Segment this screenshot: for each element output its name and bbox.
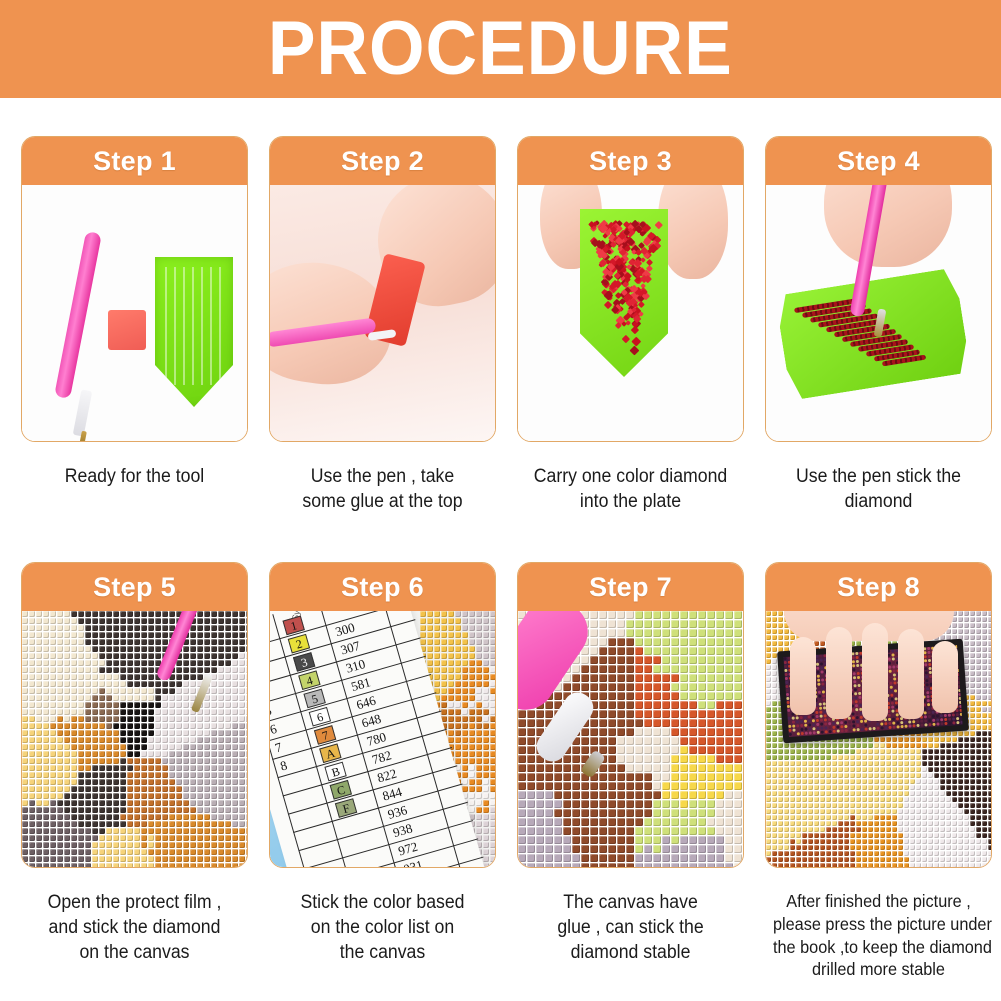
mosaic-cell bbox=[766, 743, 771, 748]
mosaic-cell bbox=[71, 821, 77, 827]
mosaic-cell bbox=[78, 646, 84, 652]
mosaic-cell bbox=[892, 755, 897, 760]
mosaic-cell bbox=[71, 744, 77, 750]
mosaic-cell bbox=[113, 716, 119, 722]
mosaic-cell bbox=[225, 800, 231, 806]
mosaic-cell bbox=[689, 638, 697, 646]
mosaic-cell bbox=[838, 779, 843, 784]
mosaic-cell bbox=[808, 773, 813, 778]
mosaic-cell bbox=[832, 821, 837, 826]
mosaic-cell bbox=[71, 779, 77, 785]
mosaic-cell bbox=[469, 772, 475, 778]
mosaic-cell bbox=[85, 786, 91, 792]
mosaic-cell bbox=[916, 845, 921, 850]
mosaic-cell bbox=[50, 863, 56, 867]
chart-cell-index: 6 bbox=[270, 721, 279, 738]
mosaic-cell bbox=[469, 737, 475, 743]
mosaic-cell bbox=[868, 761, 873, 766]
mosaic-cell bbox=[134, 667, 140, 673]
mosaic-cell bbox=[844, 785, 849, 790]
mosaic-cell bbox=[617, 719, 625, 727]
mosaic-cell bbox=[772, 851, 777, 856]
step-card-8[interactable]: Step 8 bbox=[765, 562, 992, 868]
mosaic-cell bbox=[970, 695, 975, 700]
mosaic-cell bbox=[155, 849, 161, 855]
diamond-drill bbox=[638, 301, 645, 308]
step-card-3[interactable]: Step 3 bbox=[517, 136, 744, 442]
mosaic-cell bbox=[716, 647, 724, 655]
mosaic-cell bbox=[99, 653, 105, 659]
mosaic-cell bbox=[518, 809, 526, 817]
mosaic-cell bbox=[197, 863, 203, 867]
mosaic-cell bbox=[527, 764, 535, 772]
mosaic-cell bbox=[113, 765, 119, 771]
mosaic-cell bbox=[127, 856, 133, 862]
mosaic-cell bbox=[910, 803, 915, 808]
mosaic-cell bbox=[922, 779, 927, 784]
mosaic-cell bbox=[211, 786, 217, 792]
mosaic-cell bbox=[734, 854, 742, 862]
mosaic-cell bbox=[211, 702, 217, 708]
mosaic-cell bbox=[856, 803, 861, 808]
mosaic-cell bbox=[43, 660, 49, 666]
mosaic-cell bbox=[554, 863, 562, 867]
mosaic-cell bbox=[772, 791, 777, 796]
mosaic-cell bbox=[536, 791, 544, 799]
mosaic-cell bbox=[626, 809, 634, 817]
mosaic-cell bbox=[976, 779, 981, 784]
mosaic-cell bbox=[653, 800, 661, 808]
mosaic-cell bbox=[617, 629, 625, 637]
mosaic-cell bbox=[689, 620, 697, 628]
mosaic-cell bbox=[57, 807, 63, 813]
mosaic-cell bbox=[970, 707, 975, 712]
mosaic-cell bbox=[653, 737, 661, 745]
step-card-body-2 bbox=[270, 185, 495, 441]
mosaic-cell bbox=[483, 800, 489, 806]
mosaic-cell bbox=[246, 786, 247, 792]
step-card-6[interactable]: Step 6 No.SymbolDMC112230033307443105558… bbox=[269, 562, 496, 868]
mosaic-cell bbox=[99, 800, 105, 806]
mosaic-cell bbox=[916, 815, 921, 820]
mosaic-cell bbox=[155, 653, 161, 659]
mosaic-cell bbox=[617, 746, 625, 754]
mosaic-cell bbox=[225, 681, 231, 687]
mosaic-cell bbox=[772, 833, 777, 838]
chart-row-divider bbox=[270, 692, 436, 741]
mosaic-cell bbox=[469, 758, 475, 764]
mosaic-cell bbox=[120, 667, 126, 673]
mosaic-cell bbox=[904, 827, 909, 832]
mosaic-cell bbox=[698, 845, 706, 853]
mosaic-cell bbox=[970, 839, 975, 844]
mosaic-cell bbox=[874, 737, 879, 742]
mosaic-cell bbox=[563, 782, 571, 790]
mosaic-cell bbox=[64, 793, 70, 799]
mosaic-cell bbox=[599, 827, 607, 835]
mosaic-cell bbox=[120, 786, 126, 792]
mosaic-cell bbox=[120, 793, 126, 799]
mosaic-cell bbox=[141, 653, 147, 659]
mosaic-cell bbox=[232, 772, 238, 778]
mosaic-cell bbox=[680, 683, 688, 691]
mosaic-cell bbox=[536, 719, 544, 727]
mosaic-cell bbox=[22, 863, 28, 867]
mosaic-cell bbox=[880, 791, 885, 796]
mosaic-cell bbox=[662, 764, 670, 772]
mosaic-cell bbox=[680, 800, 688, 808]
mosaic-cell bbox=[225, 646, 231, 652]
mosaic-cell bbox=[106, 660, 112, 666]
mosaic-cell bbox=[36, 765, 42, 771]
mosaic-cell bbox=[856, 767, 861, 772]
mosaic-cell bbox=[197, 828, 203, 834]
mosaic-cell bbox=[183, 660, 189, 666]
mosaic-cell bbox=[554, 818, 562, 826]
mosaic-cell bbox=[772, 797, 777, 802]
mosaic-cell bbox=[725, 647, 733, 655]
mosaic-cell bbox=[43, 667, 49, 673]
mosaic-cell bbox=[814, 827, 819, 832]
mosaic-cell bbox=[36, 660, 42, 666]
mosaic-cell bbox=[106, 800, 112, 806]
mosaic-cell bbox=[940, 785, 945, 790]
mosaic-cell bbox=[218, 716, 224, 722]
mosaic-cell bbox=[868, 773, 873, 778]
mosaic-cell bbox=[448, 730, 454, 736]
mosaic-cell bbox=[483, 807, 489, 813]
mosaic-cell bbox=[490, 639, 495, 645]
mosaic-cell bbox=[844, 797, 849, 802]
mosaic-cell bbox=[162, 688, 168, 694]
mosaic-cell bbox=[169, 849, 175, 855]
mosaic-cell bbox=[581, 782, 589, 790]
mosaic-cell bbox=[671, 701, 679, 709]
mosaic-cell bbox=[490, 772, 495, 778]
mosaic-cell bbox=[910, 791, 915, 796]
mosaic-cell bbox=[469, 695, 475, 701]
mosaic-cell bbox=[826, 791, 831, 796]
mosaic-cell bbox=[778, 641, 783, 646]
mosaic-cell bbox=[892, 773, 897, 778]
mosaic-cell bbox=[988, 761, 991, 766]
mosaic-cell bbox=[155, 744, 161, 750]
mosaic-cell bbox=[734, 638, 742, 646]
mosaic-cell bbox=[868, 857, 873, 862]
mosaic-cell bbox=[99, 849, 105, 855]
mosaic-cell bbox=[148, 765, 154, 771]
mosaic-cell bbox=[725, 845, 733, 853]
mosaic-cell bbox=[922, 785, 927, 790]
mosaic-cell bbox=[176, 863, 182, 867]
mosaic-cell bbox=[78, 772, 84, 778]
mosaic-cell bbox=[176, 849, 182, 855]
step-card-4[interactable]: Step 4 bbox=[765, 136, 992, 442]
mosaic-cell bbox=[527, 782, 535, 790]
mosaic-cell bbox=[838, 791, 843, 796]
mosaic-cell bbox=[766, 635, 771, 640]
mosaic-cell bbox=[820, 863, 825, 867]
mosaic-cell bbox=[725, 791, 733, 799]
mosaic-cell bbox=[176, 702, 182, 708]
mosaic-cell bbox=[916, 761, 921, 766]
mosaic-cell bbox=[246, 702, 247, 708]
mosaic-cell bbox=[886, 857, 891, 862]
mosaic-cell bbox=[635, 683, 643, 691]
mosaic-cell bbox=[225, 716, 231, 722]
mosaic-cell bbox=[590, 647, 598, 655]
mosaic-cell bbox=[874, 761, 879, 766]
mosaic-cell bbox=[155, 681, 161, 687]
step-column-5: Step 5 Open the protect film , and stick… bbox=[21, 562, 248, 981]
mosaic-cell bbox=[134, 625, 140, 631]
mosaic-cell bbox=[490, 702, 495, 708]
mosaic-cell bbox=[162, 723, 168, 729]
mosaic-cell bbox=[127, 765, 133, 771]
mosaic-cell bbox=[71, 772, 77, 778]
mosaic-cell bbox=[608, 701, 616, 709]
mosaic-cell bbox=[644, 791, 652, 799]
mosaic-cell bbox=[766, 695, 771, 700]
mosaic-cell bbox=[778, 821, 783, 826]
mosaic-cell bbox=[141, 800, 147, 806]
mosaic-cell bbox=[838, 845, 843, 850]
mosaic-cell bbox=[790, 743, 795, 748]
mosaic-cell bbox=[64, 730, 70, 736]
mosaic-cell bbox=[211, 772, 217, 778]
mosaic-cell bbox=[958, 815, 963, 820]
mosaic-cell bbox=[934, 863, 939, 867]
mosaic-cell bbox=[134, 730, 140, 736]
mosaic-cell bbox=[92, 674, 98, 680]
mosaic-cell bbox=[707, 854, 715, 862]
mosaic-cell bbox=[862, 863, 867, 867]
mosaic-cell bbox=[43, 653, 49, 659]
mosaic-cell bbox=[64, 646, 70, 652]
mosaic-cell bbox=[904, 821, 909, 826]
mosaic-cell bbox=[662, 737, 670, 745]
mosaic-cell bbox=[982, 725, 987, 730]
mosaic-cell bbox=[958, 791, 963, 796]
mosaic-cell bbox=[476, 800, 482, 806]
mosaic-cell bbox=[689, 854, 697, 862]
mosaic-cell bbox=[85, 653, 91, 659]
mosaic-cell bbox=[844, 815, 849, 820]
mosaic-cell bbox=[808, 821, 813, 826]
mosaic-cell bbox=[988, 797, 991, 802]
mosaic-cell bbox=[772, 659, 777, 664]
mosaic-cell bbox=[85, 765, 91, 771]
mosaic-cell bbox=[120, 744, 126, 750]
step-card-header-1: Step 1 bbox=[22, 137, 247, 185]
mosaic-cell bbox=[120, 653, 126, 659]
mosaic-cell bbox=[796, 851, 801, 856]
mosaic-cell bbox=[448, 639, 454, 645]
mosaic-cell bbox=[644, 818, 652, 826]
mosaic-cell bbox=[490, 849, 495, 855]
mosaic-cell bbox=[476, 709, 482, 715]
mosaic-cell bbox=[183, 702, 189, 708]
mosaic-cell bbox=[653, 611, 661, 619]
mosaic-cell bbox=[716, 692, 724, 700]
mosaic-cell bbox=[946, 773, 951, 778]
mosaic-cell bbox=[113, 695, 119, 701]
mosaic-cell bbox=[689, 827, 697, 835]
mosaic-cell bbox=[527, 845, 535, 853]
mosaic-cell bbox=[225, 695, 231, 701]
mosaic-cell bbox=[892, 743, 897, 748]
mosaic-cell bbox=[43, 625, 49, 631]
mosaic-cell bbox=[662, 638, 670, 646]
mosaic-cell bbox=[635, 665, 643, 673]
mosaic-cell bbox=[626, 800, 634, 808]
mosaic-cell bbox=[113, 793, 119, 799]
mosaic-cell bbox=[162, 842, 168, 848]
mosaic-cell bbox=[92, 639, 98, 645]
mosaic-cell bbox=[483, 716, 489, 722]
mosaic-cell bbox=[43, 709, 49, 715]
mosaic-cell bbox=[441, 702, 447, 708]
mosaic-cell bbox=[988, 839, 991, 844]
mosaic-cell bbox=[970, 713, 975, 718]
mosaic-cell bbox=[784, 815, 789, 820]
mosaic-cell bbox=[716, 746, 724, 754]
mosaic-cell bbox=[218, 814, 224, 820]
step-card-1[interactable]: Step 1 bbox=[21, 136, 248, 442]
mosaic-cell bbox=[232, 751, 238, 757]
mosaic-cell bbox=[608, 854, 616, 862]
mosaic-cell bbox=[766, 851, 771, 856]
mosaic-cell bbox=[680, 764, 688, 772]
mosaic-cell bbox=[856, 833, 861, 838]
mosaic-cell bbox=[814, 809, 819, 814]
mosaic-cell bbox=[50, 646, 56, 652]
mosaic-cell bbox=[880, 773, 885, 778]
mosaic-cell bbox=[958, 821, 963, 826]
mosaic-cell bbox=[518, 746, 526, 754]
mosaic-cell bbox=[106, 786, 112, 792]
mosaic-cell bbox=[626, 656, 634, 664]
mosaic-cell bbox=[790, 839, 795, 844]
step-card-5[interactable]: Step 5 bbox=[21, 562, 248, 868]
mosaic-cell bbox=[120, 737, 126, 743]
mosaic-cell bbox=[225, 793, 231, 799]
mosaic-cell bbox=[64, 660, 70, 666]
mosaic-cell bbox=[958, 833, 963, 838]
mosaic-cell bbox=[106, 849, 112, 855]
mosaic-cell bbox=[644, 647, 652, 655]
mosaic-cell bbox=[976, 833, 981, 838]
mosaic-cell bbox=[120, 856, 126, 862]
mosaic-cell bbox=[796, 749, 801, 754]
mosaic-cell bbox=[734, 683, 742, 691]
mosaic-cell bbox=[218, 828, 224, 834]
step-card-body-4 bbox=[766, 185, 991, 441]
mosaic-cell bbox=[29, 786, 35, 792]
mosaic-cell bbox=[176, 695, 182, 701]
mosaic-cell bbox=[766, 641, 771, 646]
mosaic-cell bbox=[707, 611, 715, 619]
step-card-2[interactable]: Step 2 bbox=[269, 136, 496, 442]
mosaic-cell bbox=[232, 674, 238, 680]
mosaic-cell bbox=[78, 786, 84, 792]
mosaic-cell bbox=[99, 646, 105, 652]
mosaic-cell bbox=[802, 863, 807, 867]
mosaic-cell bbox=[448, 695, 454, 701]
mosaic-cell bbox=[880, 833, 885, 838]
mosaic-cell bbox=[246, 765, 247, 771]
mosaic-cell bbox=[886, 851, 891, 856]
mosaic-cell bbox=[617, 863, 625, 867]
mosaic-cell bbox=[22, 611, 28, 617]
mosaic-cell bbox=[626, 692, 634, 700]
mosaic-cell bbox=[162, 709, 168, 715]
mosaic-cell bbox=[982, 671, 987, 676]
mosaic-cell bbox=[148, 863, 154, 867]
mosaic-cell bbox=[36, 856, 42, 862]
mosaic-cell bbox=[904, 791, 909, 796]
mosaic-cell bbox=[862, 773, 867, 778]
step-card-7[interactable]: Step 7 bbox=[517, 562, 744, 868]
mosaic-cell bbox=[892, 785, 897, 790]
mosaic-cell bbox=[246, 646, 247, 652]
mosaic-cell bbox=[734, 728, 742, 736]
mosaic-cell bbox=[29, 828, 35, 834]
mosaic-cell bbox=[698, 764, 706, 772]
mosaic-cell bbox=[441, 674, 447, 680]
mosaic-cell bbox=[545, 818, 553, 826]
mosaic-cell bbox=[99, 807, 105, 813]
mosaic-cell bbox=[725, 683, 733, 691]
mosaic-cell bbox=[232, 625, 238, 631]
mosaic-cell bbox=[644, 620, 652, 628]
mosaic-cell bbox=[462, 723, 468, 729]
mosaic-cell bbox=[808, 851, 813, 856]
mosaic-cell bbox=[197, 765, 203, 771]
mosaic-cell bbox=[982, 755, 987, 760]
mosaic-cell bbox=[120, 842, 126, 848]
mosaic-cell bbox=[169, 751, 175, 757]
mosaic-cell bbox=[57, 695, 63, 701]
mosaic-cell bbox=[141, 646, 147, 652]
mosaic-cell bbox=[976, 713, 981, 718]
mosaic-cell bbox=[716, 665, 724, 673]
mosaic-cell bbox=[183, 807, 189, 813]
mosaic-cell bbox=[448, 667, 454, 673]
mosaic-cell bbox=[483, 646, 489, 652]
mosaic-cell bbox=[527, 737, 535, 745]
mosaic-cell bbox=[928, 827, 933, 832]
mosaic-cell bbox=[916, 773, 921, 778]
mosaic-cell bbox=[148, 786, 154, 792]
mosaic-cell bbox=[796, 857, 801, 862]
mosaic-cell bbox=[964, 647, 969, 652]
mosaic-cell bbox=[99, 779, 105, 785]
mosaic-cell bbox=[43, 828, 49, 834]
mosaic-cell bbox=[85, 744, 91, 750]
mosaic-cell bbox=[169, 695, 175, 701]
mosaic-cell bbox=[590, 827, 598, 835]
mosaic-cell bbox=[169, 611, 175, 617]
mosaic-cell bbox=[106, 758, 112, 764]
mosaic-cell bbox=[689, 782, 697, 790]
mosaic-cell bbox=[71, 828, 77, 834]
mosaic-cell bbox=[707, 800, 715, 808]
mosaic-cell bbox=[190, 814, 196, 820]
mosaic-cell bbox=[689, 863, 697, 867]
mosaic-cell bbox=[970, 815, 975, 820]
mosaic-cell bbox=[469, 751, 475, 757]
